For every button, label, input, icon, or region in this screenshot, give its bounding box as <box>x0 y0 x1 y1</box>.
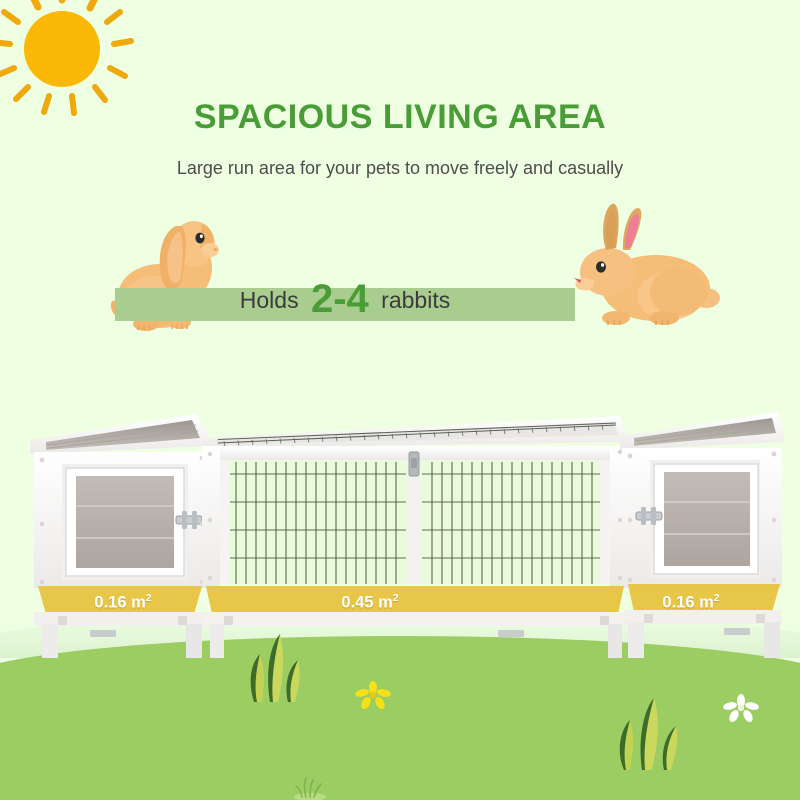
grass-tuft-icon <box>240 630 310 702</box>
rabbit-hutch-product-image <box>24 398 784 660</box>
latch-center <box>409 452 419 476</box>
rabbit-crouching-icon <box>560 192 720 332</box>
flower-white-icon <box>723 694 759 722</box>
area-label-left: 0.16 m2 <box>48 592 198 613</box>
infographic-canvas: SPACIOUS LIVING AREA Large run area for … <box>0 0 800 800</box>
grass-tuft-icon <box>612 690 692 770</box>
area-label-right: 0.16 m2 <box>616 592 766 613</box>
page-title: SPACIOUS LIVING AREA <box>0 98 800 137</box>
capacity-banner-text: Holds 2-4 rabbits <box>115 272 575 328</box>
capacity-prefix: Holds <box>240 287 305 314</box>
capacity-suffix: rabbits <box>375 287 450 314</box>
flower-yellow-icon <box>355 681 391 709</box>
area-label-center: 0.45 m2 <box>295 592 445 613</box>
capacity-count: 2-4 <box>305 279 375 319</box>
grass-sprig-icon <box>290 775 330 800</box>
page-subtitle: Large run area for your pets to move fre… <box>0 158 800 179</box>
